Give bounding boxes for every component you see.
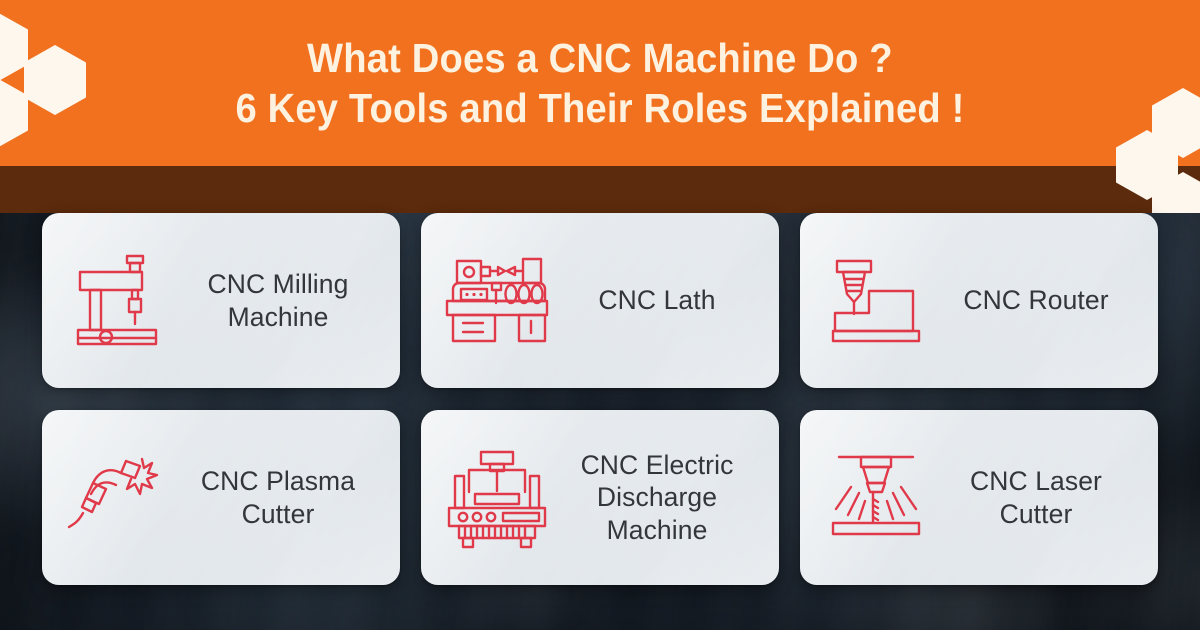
infographic-root: What Does a CNC Machine Do ? 6 Key Tools… (0, 0, 1200, 630)
tool-card-label-line-1: CNC Electric (553, 449, 761, 481)
page-title: What Does a CNC Machine Do ? 6 Key Tools… (0, 0, 1200, 166)
title-line-1: What Does a CNC Machine Do ? (307, 34, 893, 82)
tool-card-label-line-1: CNC Laser (932, 465, 1140, 497)
tool-card-label: CNC Plasma Cutter (174, 465, 386, 530)
tool-card-label-line-1: CNC Lath (553, 284, 761, 316)
tool-card-label-line-3: Machine (553, 514, 761, 546)
tool-card-cnc-milling-machine[interactable]: CNC Milling Machine (42, 213, 400, 388)
tool-card-cnc-router[interactable]: CNC Router (800, 213, 1158, 388)
tool-card-label-line-2: Discharge (553, 481, 761, 513)
tool-card-label: CNC Milling Machine (174, 268, 386, 333)
tool-card-grid: CNC Milling Machine (42, 213, 1158, 585)
tool-card-cnc-lath[interactable]: CNC Lath (421, 213, 779, 388)
tool-card-label: CNC Lath (553, 284, 765, 316)
tool-card-label: CNC Router (932, 284, 1144, 316)
cnc-lathe-icon (441, 246, 553, 356)
header-sub-band (0, 166, 1200, 213)
tool-card-label-line-2: Cutter (174, 498, 382, 530)
cnc-milling-machine-icon (62, 246, 174, 356)
tool-card-label-line-1: CNC Milling (174, 268, 382, 300)
tool-card-label-line-2: Machine (174, 301, 382, 333)
plasma-torch-icon (62, 443, 174, 553)
cnc-router-icon (820, 246, 932, 356)
laser-cutter-icon (820, 443, 932, 553)
tool-card-label-line-1: CNC Router (932, 284, 1140, 316)
tool-card-label-line-1: CNC Plasma (174, 465, 382, 497)
tool-card-cnc-plasma-cutter[interactable]: CNC Plasma Cutter (42, 410, 400, 585)
tool-card-cnc-laser-cutter[interactable]: CNC Laser Cutter (800, 410, 1158, 585)
tool-card-label-line-2: Cutter (932, 498, 1140, 530)
edm-machine-icon (441, 443, 553, 553)
tool-card-cnc-electric-discharge-machine[interactable]: CNC Electric Discharge Machine (421, 410, 779, 585)
tool-card-label: CNC Laser Cutter (932, 465, 1144, 530)
title-line-2: 6 Key Tools and Their Roles Explained ! (235, 84, 964, 132)
tool-card-label: CNC Electric Discharge Machine (553, 449, 765, 546)
